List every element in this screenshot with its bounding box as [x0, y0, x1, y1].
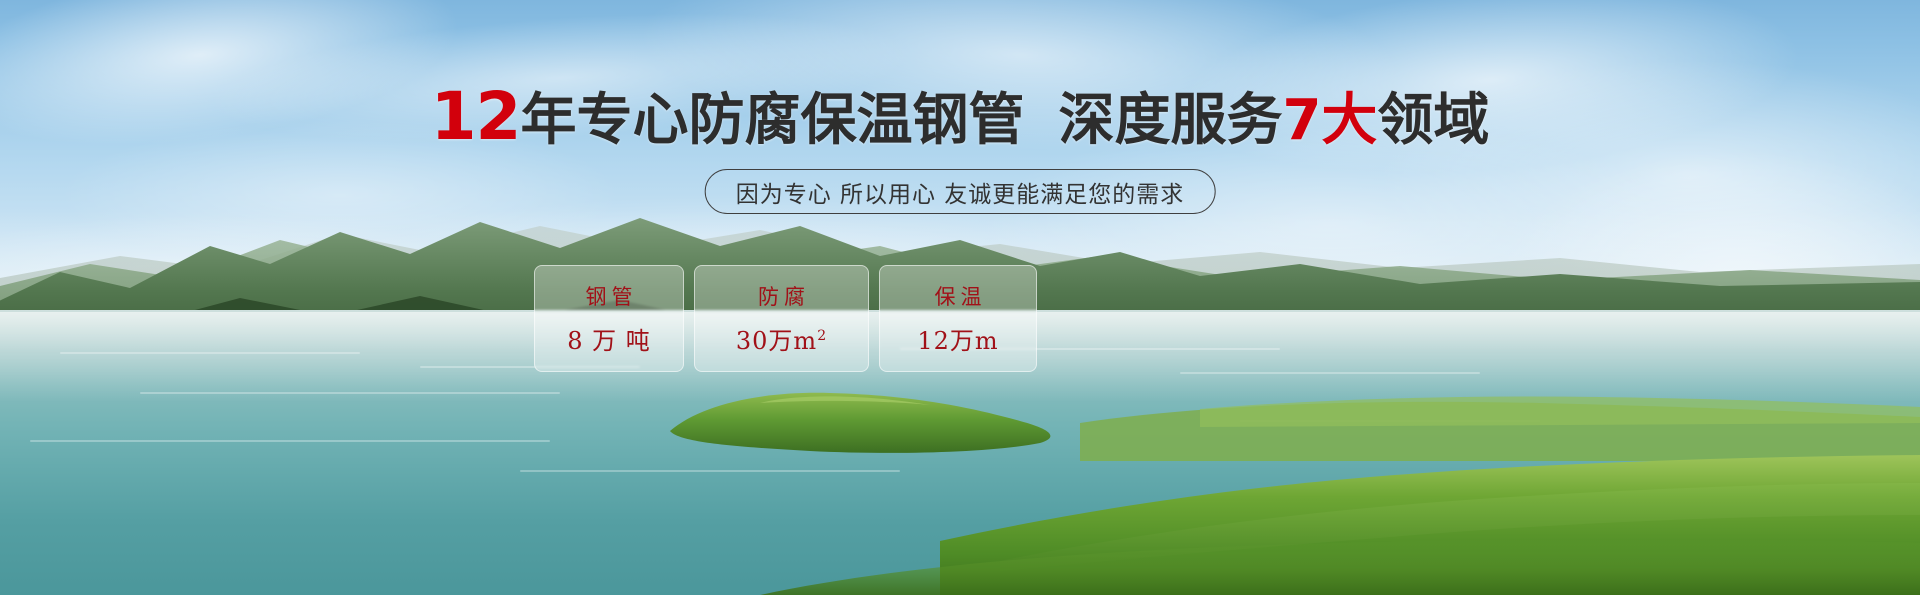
stat-card-insulation[interactable]: 保温 12万m — [879, 265, 1037, 372]
hero-banner: 12年专心防腐保温钢管深度服务7大领域 因为专心 所以用心 友诚更能满足您的需求… — [0, 0, 1920, 595]
stat-card-title: 保温 — [930, 281, 987, 311]
page-title: 12年专心防腐保温钢管深度服务7大领域 — [0, 86, 1920, 152]
headline-years-number: 12 — [431, 78, 521, 155]
stat-card-value: 8 万 吨 — [567, 321, 651, 356]
stat-card-value-base: 12万m — [917, 327, 998, 355]
stat-card-value-superscript: 2 — [817, 328, 827, 344]
stat-card-anticorrosion[interactable]: 防腐 30万m2 — [694, 265, 869, 372]
stat-card-title: 钢管 — [581, 281, 638, 311]
stat-card-value-base: 30万m — [736, 327, 817, 355]
headline-part-one: 年专心防腐保温钢管 — [520, 88, 1024, 153]
grass-foreground-icon — [0, 525, 1920, 595]
stat-card-title: 防腐 — [753, 281, 810, 311]
water-ripple — [520, 470, 900, 472]
water-ripple — [30, 440, 550, 442]
headline-part-two: 深度服务 — [1058, 88, 1282, 153]
stat-card-value-base: 8 万 吨 — [567, 327, 651, 355]
subtitle-text: 因为专心 所以用心 友诚更能满足您的需求 — [736, 175, 1185, 209]
stat-card-steel-pipe[interactable]: 钢管 8 万 吨 — [534, 265, 684, 372]
subtitle-pill: 因为专心 所以用心 友诚更能满足您的需求 — [705, 169, 1216, 214]
stat-card-value: 30万m2 — [736, 321, 827, 356]
stat-card-value: 12万m — [917, 321, 998, 356]
headline-highlight: 7大 — [1282, 88, 1377, 153]
water-ripple — [140, 392, 560, 394]
stat-card-group: 钢管 8 万 吨 防腐 30万m2 保温 12万m — [534, 265, 1037, 372]
water-ripple — [60, 352, 360, 354]
grass-foreground — [0, 525, 1920, 595]
headline-part-three: 领域 — [1377, 88, 1489, 153]
